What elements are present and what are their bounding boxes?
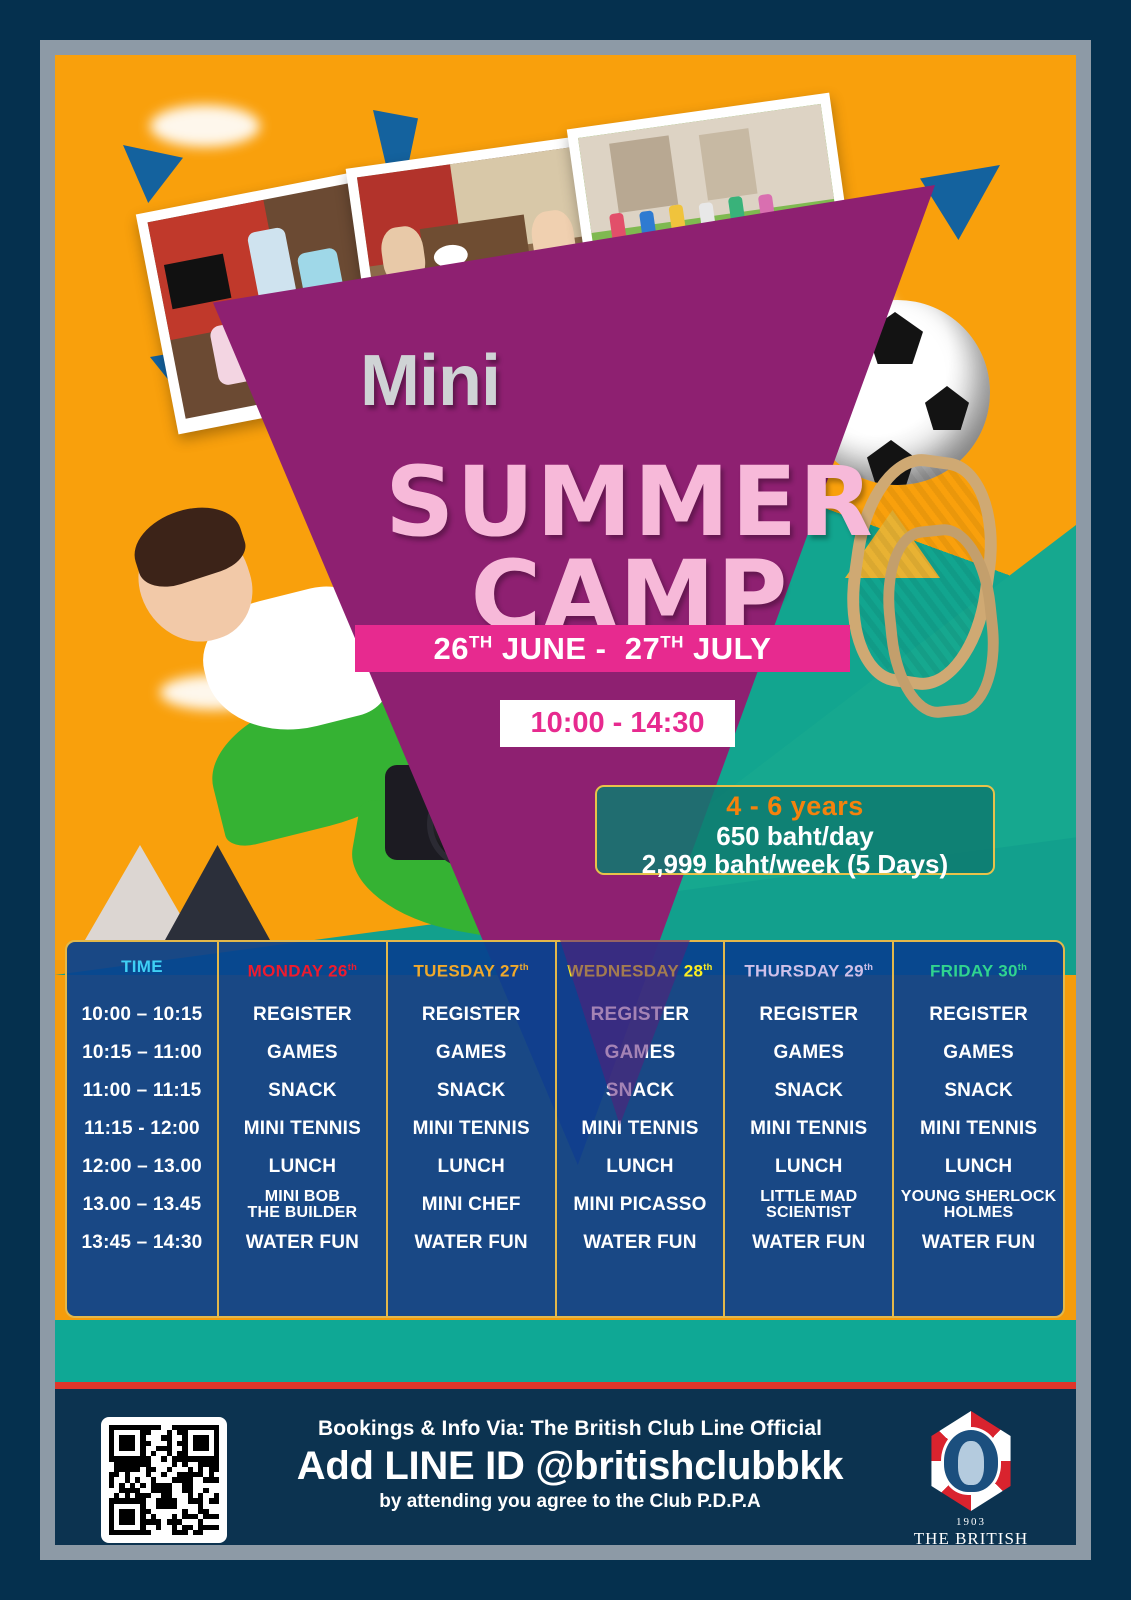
schedule-time-cell: 13.00 – 13.45: [71, 1186, 213, 1224]
poster-content-area: Mini SUMMER CAMP 26TH JUNE - 27TH JULY 1…: [55, 55, 1076, 1545]
schedule-time-cell: 13:45 – 14:30: [71, 1224, 213, 1262]
schedule-activity-cell: MINI TENNIS: [392, 1110, 551, 1148]
schedule-header-wednesday: WEDNESDAY 28th: [561, 954, 720, 980]
pricing-box: 4 - 6 years 650 baht/day 2,999 baht/week…: [595, 785, 995, 875]
schedule-activity-cell: GAMES: [898, 1034, 1059, 1072]
schedule-time-cell: 10:15 – 11:00: [71, 1034, 213, 1072]
schedule-activity-cell: MINI BOBTHE BUILDER: [223, 1186, 382, 1224]
daily-time-text: 10:00 - 14:30: [530, 707, 704, 740]
date-range-banner: 26TH JUNE - 27TH JULY: [355, 625, 850, 672]
schedule-activity-cell: WATER FUN: [392, 1224, 551, 1262]
schedule-activity-cell: WATER FUN: [898, 1224, 1059, 1262]
cloud-icon: [150, 105, 260, 147]
club-year: 1903: [891, 1516, 1051, 1528]
schedule-activity-cell: GAMES: [223, 1034, 382, 1072]
schedule-column-tuesday: TUESDAY 27thREGISTERGAMESSNACKMINI TENNI…: [388, 942, 557, 1316]
day-rate-text: 650 baht/day: [597, 822, 993, 850]
schedule-time-cell: 11:00 – 11:15: [71, 1072, 213, 1110]
schedule-time-cell: 10:00 – 10:15: [71, 996, 213, 1034]
date-range-text: 26TH JUNE - 27TH JULY: [434, 631, 772, 667]
british-club-logo: 1903 THE BRITISH CLUB BANGKOK: [891, 1411, 1051, 1545]
schedule-activity-cell: MINI TENNIS: [729, 1110, 888, 1148]
line-id-text[interactable]: Add LINE ID @britishclubbkk: [270, 1444, 870, 1489]
schedule-column-time: TIME10:00 – 10:1510:15 – 11:0011:00 – 11…: [67, 942, 219, 1316]
schedule-activity-cell: REGISTER: [561, 996, 720, 1034]
schedule-header-thursday: THURSDAY 29th: [729, 954, 888, 980]
schedule-activity-cell: WATER FUN: [223, 1224, 382, 1262]
qr-code[interactable]: [101, 1417, 227, 1543]
schedule-header-monday: MONDAY 26th: [223, 954, 382, 980]
age-range-text: 4 - 6 years: [597, 791, 993, 822]
schedule-activity-cell: LUNCH: [898, 1148, 1059, 1186]
crest-icon: [925, 1411, 1017, 1511]
schedule-activity-cell: LUNCH: [223, 1148, 382, 1186]
bookings-line: Bookings & Info Via: The British Club Li…: [270, 1417, 870, 1441]
schedule-header-time: TIME: [71, 954, 213, 980]
schedule-column-monday: MONDAY 26thREGISTERGAMESSNACKMINI TENNIS…: [219, 942, 388, 1316]
schedule-activity-cell: SNACK: [392, 1072, 551, 1110]
schedule-activity-cell: SNACK: [223, 1072, 382, 1110]
schedule-activity-cell: WATER FUN: [561, 1224, 720, 1262]
schedule-activity-cell: MINI CHEF: [392, 1186, 551, 1224]
schedule-activity-cell: SNACK: [561, 1072, 720, 1110]
schedule-activity-cell: MINI TENNIS: [223, 1110, 382, 1148]
schedule-time-cell: 12:00 – 13.00: [71, 1148, 213, 1186]
schedule-column-friday: FRIDAY 30thREGISTERGAMESSNACKMINI TENNIS…: [894, 942, 1063, 1316]
schedule-time-cell: 11:15 - 12:00: [71, 1110, 213, 1148]
schedule-activity-cell: GAMES: [729, 1034, 888, 1072]
schedule-activity-cell: GAMES: [392, 1034, 551, 1072]
schedule-activity-cell: YOUNG SHERLOCKHOLMES: [898, 1186, 1059, 1224]
schedule-column-thursday: THURSDAY 29thREGISTERGAMESSNACKMINI TENN…: [725, 942, 894, 1316]
schedule-activity-cell: REGISTER: [392, 996, 551, 1034]
schedule-column-wednesday: WEDNESDAY 28thREGISTERGAMESSNACKMINI TEN…: [557, 942, 726, 1316]
schedule-activity-cell: SNACK: [898, 1072, 1059, 1110]
club-name: THE BRITISH CLUB: [891, 1529, 1051, 1545]
footer-text-block: Bookings & Info Via: The British Club Li…: [270, 1417, 870, 1513]
schedule-activity-cell: REGISTER: [223, 996, 382, 1034]
schedule-header-tuesday: TUESDAY 27th: [392, 954, 551, 980]
week-rate-text: 2,999 baht/week (5 Days): [597, 850, 993, 878]
schedule-activity-cell: MINI TENNIS: [898, 1110, 1059, 1148]
schedule-activity-cell: REGISTER: [729, 996, 888, 1034]
schedule-activity-cell: REGISTER: [898, 996, 1059, 1034]
schedule-table: TIME10:00 – 10:1510:15 – 11:0011:00 – 11…: [65, 940, 1065, 1318]
poster-root: Mini SUMMER CAMP 26TH JUNE - 27TH JULY 1…: [0, 0, 1131, 1600]
title-mini: Mini: [360, 340, 760, 422]
red-stripe: [55, 1382, 1076, 1389]
schedule-header-friday: FRIDAY 30th: [898, 954, 1059, 980]
schedule-activity-cell: LITTLE MADSCIENTIST: [729, 1186, 888, 1224]
schedule-activity-cell: LUNCH: [729, 1148, 888, 1186]
footer-bar: Bookings & Info Via: The British Club Li…: [55, 1389, 1076, 1545]
schedule-activity-cell: LUNCH: [561, 1148, 720, 1186]
teal-band: [55, 1320, 1076, 1382]
schedule-activity-cell: MINI PICASSO: [561, 1186, 720, 1224]
schedule-activity-cell: LUNCH: [392, 1148, 551, 1186]
schedule-activity-cell: MINI TENNIS: [561, 1110, 720, 1148]
schedule-activity-cell: SNACK: [729, 1072, 888, 1110]
schedule-activity-cell: WATER FUN: [729, 1224, 888, 1262]
pdpa-note: by attending you agree to the Club P.D.P…: [270, 1491, 870, 1513]
daily-time-box: 10:00 - 14:30: [500, 700, 735, 747]
schedule-activity-cell: GAMES: [561, 1034, 720, 1072]
title-summer-camp: SUMMER CAMP: [350, 455, 910, 643]
